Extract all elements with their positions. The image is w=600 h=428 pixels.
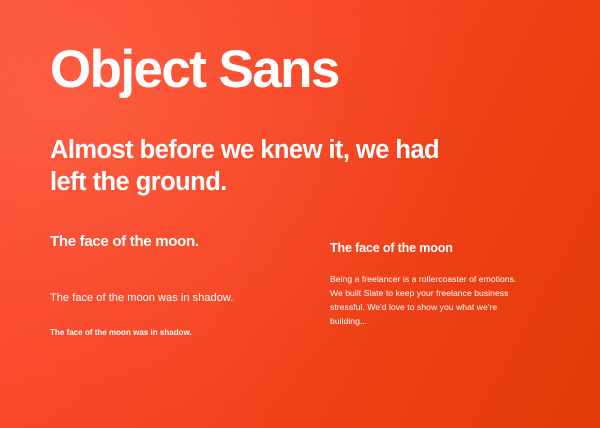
headline-text: Almost before we knew it, we had left th… (50, 134, 450, 198)
right-specimen-column: The face of the moon Being a freelancer … (330, 240, 535, 329)
left-column-heading: The face of the moon. (50, 232, 305, 252)
font-specimen-poster: Object Sans Almost before we knew it, we… (0, 0, 600, 428)
right-column-heading: The face of the moon (330, 240, 535, 256)
right-column-body: Being a freelancer is a rollercoaster of… (330, 256, 530, 329)
left-specimen-column: The face of the moon. The face of the mo… (50, 232, 305, 339)
left-column-body-small-bold: The face of the moon was in shadow. (50, 306, 305, 338)
display-title: Object Sans (50, 42, 339, 97)
left-column-body-medium: The face of the moon was in shadow. (50, 252, 305, 307)
